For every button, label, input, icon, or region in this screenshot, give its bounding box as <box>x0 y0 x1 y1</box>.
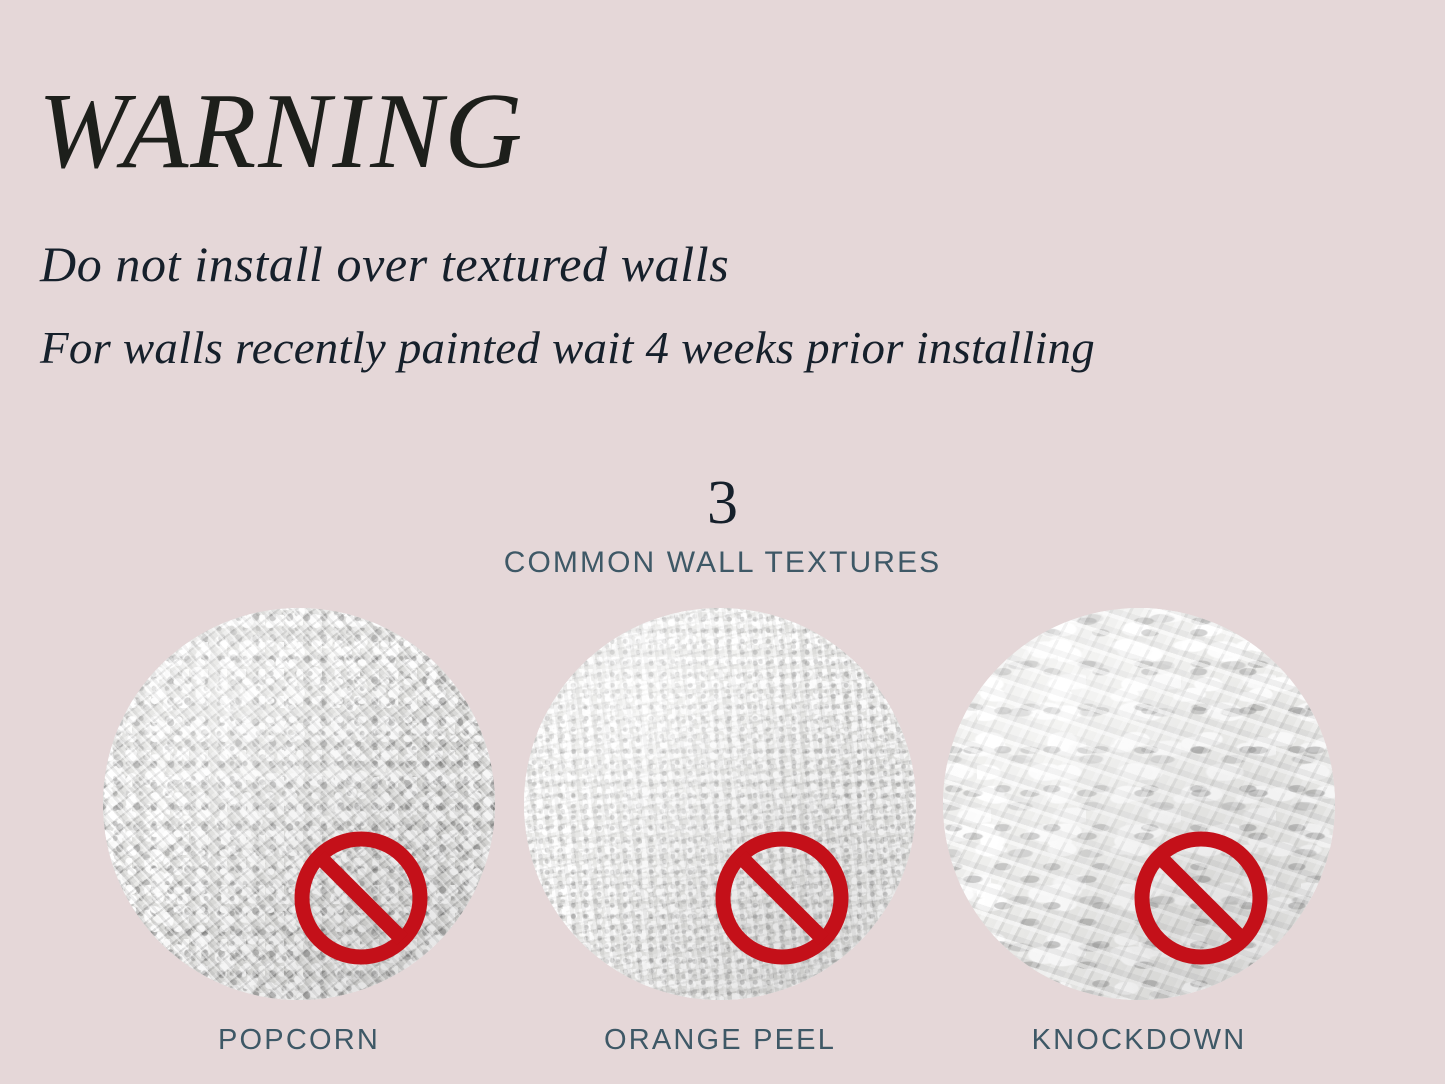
section-subtitle: COMMON WALL TEXTURES <box>0 546 1445 580</box>
texture-label: POPCORN <box>103 1023 495 1057</box>
texture-count: 3 <box>0 472 1445 534</box>
texture-swatch: KNOCKDOWN <box>943 608 1335 1084</box>
texture-label: KNOCKDOWN <box>943 1023 1335 1057</box>
instruction-line-1: Do not install over textured walls <box>40 222 1430 306</box>
instruction-line-2: For walls recently painted wait 4 weeks … <box>40 306 1445 390</box>
texture-swatch: POPCORN <box>103 608 495 1084</box>
texture-swatch: ORANGE PEEL <box>524 608 916 1084</box>
no-entry-icon <box>1133 830 1269 966</box>
page-title: WARNING <box>38 74 524 191</box>
no-entry-icon <box>293 830 429 966</box>
texture-label: ORANGE PEEL <box>524 1023 916 1057</box>
warning-poster: WARNING Do not install over textured wal… <box>0 0 1445 1084</box>
no-entry-icon <box>714 830 850 966</box>
instruction-list: Do not install over textured walls For w… <box>40 222 1430 390</box>
texture-swatch-row: POPCORN ORANGE PEEL <box>0 608 1445 1084</box>
section-heading: 3 COMMON WALL TEXTURES <box>0 472 1445 580</box>
